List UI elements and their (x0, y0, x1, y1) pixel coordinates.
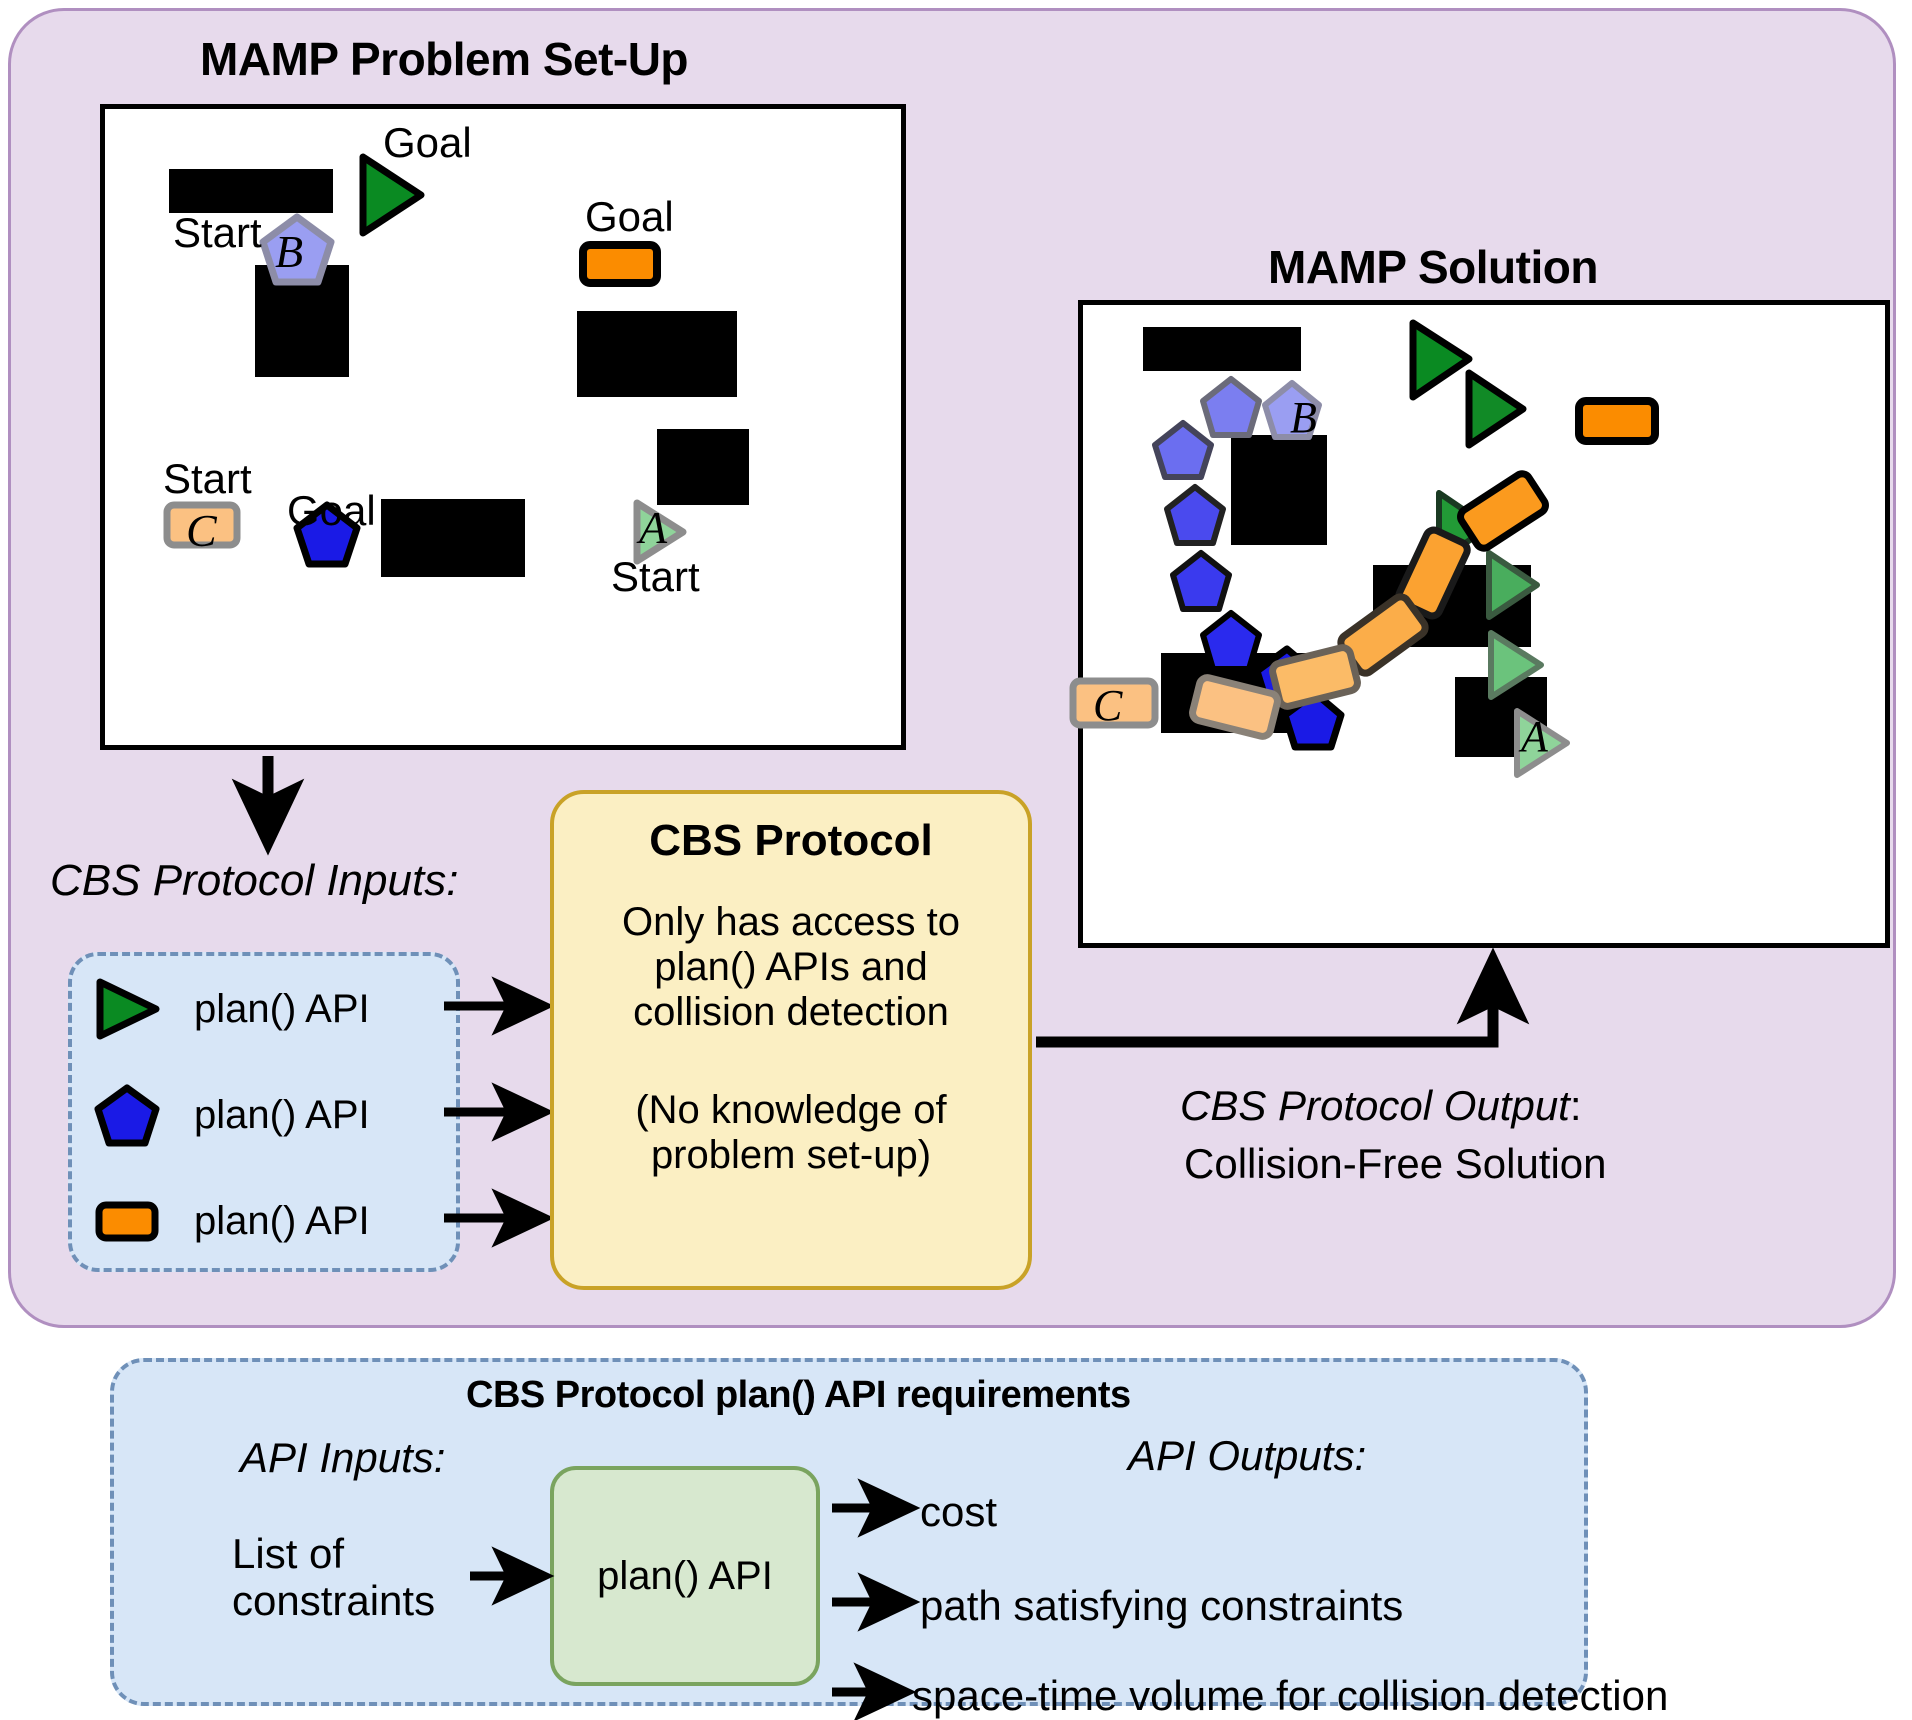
solution-world-svg (1083, 305, 1885, 943)
input-label: plan() API (194, 1199, 370, 1244)
cbs-protocol-note: (No knowledge of problem set-up) (554, 1088, 1028, 1178)
cbs-note-line: problem set-up) (572, 1133, 1010, 1178)
output-caption-label: CBS Protocol Output: (1180, 1082, 1582, 1130)
api-input-item: List of constraints (232, 1530, 435, 1624)
obstacle-rect (657, 429, 749, 505)
obstacle-rect (169, 169, 333, 213)
goal-rect-orange (583, 245, 657, 283)
input-label: plan() API (194, 1093, 370, 1138)
goal-triangle-green (363, 157, 421, 233)
pentagon-trajectory-step (1173, 553, 1229, 609)
triangle-trajectory-step (1469, 373, 1523, 445)
cbs-body-line: plan() APIs and (572, 945, 1010, 990)
pentagon-trajectory-step (1167, 487, 1223, 543)
label-start-triangle: Start (611, 553, 700, 601)
obstacle-rect (577, 311, 737, 397)
pentagon-trajectory-step (1203, 613, 1259, 669)
input-row-rectangle: plan() API (94, 1186, 370, 1256)
rect-trajectory-step (1457, 471, 1548, 551)
agent-letter-C: C (1093, 680, 1122, 731)
triangle-goal-green (1413, 323, 1469, 397)
output-caption-value: Collision-Free Solution (1184, 1140, 1607, 1188)
cbs-protocol-box: CBS Protocol Only has access to plan() A… (550, 790, 1032, 1290)
setup-panel-title: MAMP Problem Set-Up (200, 32, 688, 86)
figure-root: MAMP Problem Set-Up MAMP Solution B (0, 0, 1912, 1720)
cbs-protocol-body: Only has access to plan() APIs and colli… (554, 900, 1028, 1036)
plan-api-label: plan() API (597, 1554, 773, 1599)
agent-letter-B: B (275, 225, 303, 278)
solution-panel-title: MAMP Solution (1268, 240, 1598, 294)
api-input-line: List of (232, 1530, 435, 1577)
inputs-caption: CBS Protocol Inputs: (50, 856, 458, 906)
rect-goal-orange (1579, 401, 1655, 441)
pentagon-trajectory-step (1155, 423, 1211, 477)
cbs-body-line: Only has access to (572, 900, 1010, 945)
api-panel-title: CBS Protocol plan() API requirements (466, 1374, 1131, 1417)
output-caption-text: CBS Protocol Output (1180, 1082, 1570, 1129)
obstacle-rect (1143, 327, 1301, 371)
obstacle-rect (1231, 435, 1327, 545)
setup-world-svg (105, 109, 901, 745)
setup-world-canvas: B C A Goal Start Goal Start Goal Start (100, 104, 906, 750)
agent-letter-A: A (639, 501, 667, 554)
cbs-note-line: (No knowledge of (572, 1088, 1010, 1133)
cbs-body-line: collision detection (572, 990, 1010, 1035)
api-output-item: cost (920, 1488, 997, 1536)
api-inputs-label: API Inputs: (240, 1434, 445, 1482)
agent-letter-C: C (186, 504, 217, 557)
obstacle-rect (381, 499, 525, 577)
cbs-protocol-title: CBS Protocol (554, 816, 1028, 866)
api-input-line: constraints (232, 1577, 435, 1624)
input-row-triangle: plan() API (94, 974, 370, 1044)
label-goal-orange: Goal (585, 193, 674, 241)
agent-letter-B: B (1290, 392, 1317, 443)
agent-letter-A: A (1521, 711, 1548, 762)
label-start-pentagon: Start (173, 209, 262, 257)
pentagon-icon (94, 1083, 160, 1147)
input-label: plan() API (194, 987, 370, 1032)
input-row-pentagon: plan() API (94, 1080, 370, 1150)
solution-world-canvas: B C A (1078, 300, 1890, 948)
plan-api-box: plan() API (550, 1466, 820, 1686)
cbs-inputs-box: plan() API plan() API plan() API (68, 952, 460, 1272)
api-output-item: path satisfying constraints (920, 1582, 1403, 1630)
triangle-icon (94, 977, 160, 1041)
api-output-item: space-time volume for collision detectio… (912, 1672, 1668, 1720)
rectangle-icon (94, 1189, 160, 1253)
api-outputs-label: API Outputs: (1128, 1432, 1366, 1480)
label-goal-blue: Goal (287, 487, 376, 535)
output-caption-colon: : (1570, 1082, 1582, 1129)
label-goal-green: Goal (383, 119, 472, 167)
pentagon-trajectory-step (1203, 379, 1259, 435)
label-start-rect: Start (163, 455, 252, 503)
